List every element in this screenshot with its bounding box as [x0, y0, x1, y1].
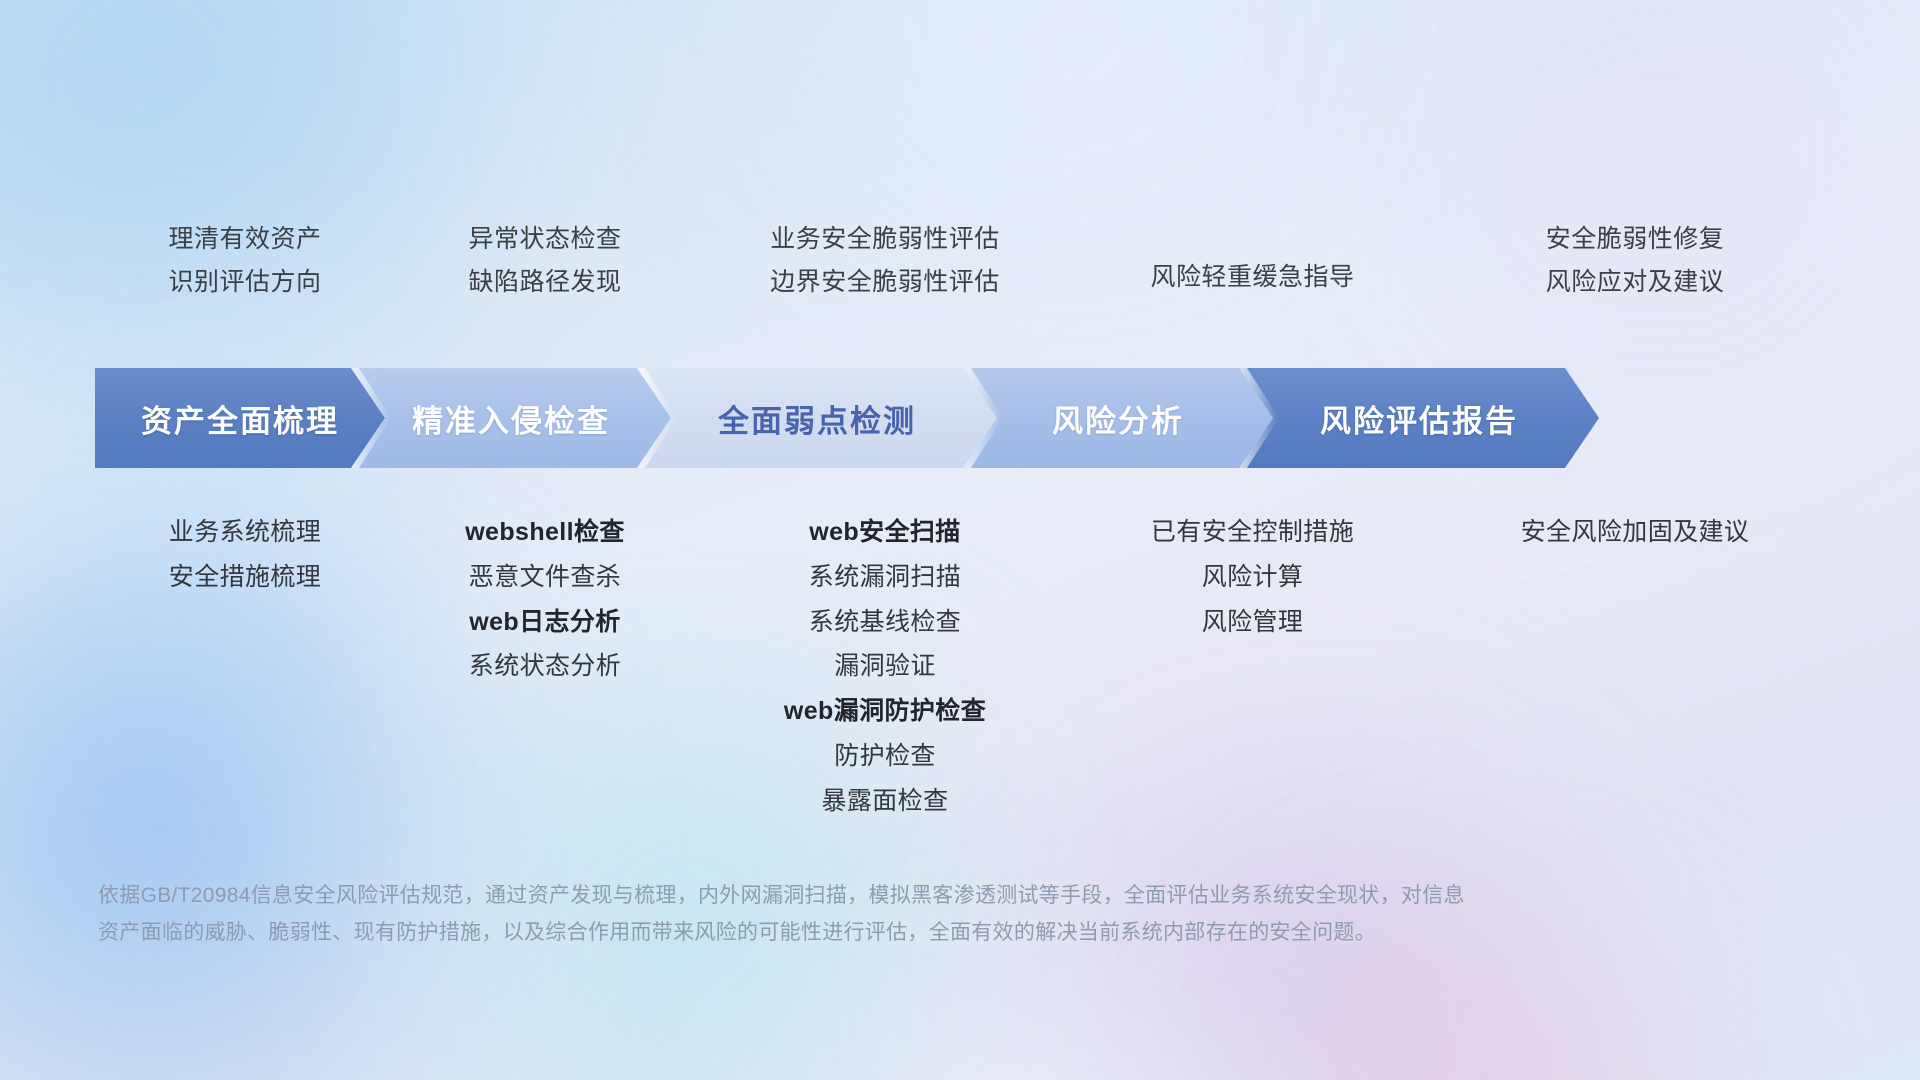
top-caption-item: 风险应对及建议 [1546, 268, 1725, 297]
bottom-detail-item: 安全风险加固及建议 [1521, 518, 1750, 547]
process-step-5[interactable]: 风险评估报告 [1239, 368, 1599, 468]
bottom-detail-item: 暴露面检查 [821, 787, 948, 816]
top-caption-column: 异常状态检查缺陷路径发现 [395, 225, 695, 335]
bottom-detail-item: 系统漏洞扫描 [809, 563, 961, 592]
top-caption-item: 理清有效资产 [168, 225, 321, 254]
process-step-4[interactable]: 风险分析 [963, 368, 1273, 468]
bottom-detail-column: 安全风险加固及建议 [1430, 500, 1840, 547]
bottom-detail-item: web漏洞防护检查 [784, 697, 986, 726]
footer-description: 依据GB/T20984信息安全风险评估规范，通过资产发现与梳理，内外网漏洞扫描，… [98, 878, 1618, 952]
bottom-detail-item: 安全措施梳理 [169, 563, 321, 592]
bottom-detail-column: webshell检查恶意文件查杀web日志分析系统状态分析 [395, 500, 695, 681]
top-caption-item: 风险轻重缓急指导 [1150, 263, 1354, 292]
top-caption-item: 识别评估方向 [168, 268, 321, 297]
process-step-label: 风险分析 [1052, 396, 1184, 441]
process-step-label: 全面弱点检测 [718, 396, 916, 441]
top-caption-item: 缺陷路径发现 [468, 268, 621, 297]
bottom-detail-item: 风险管理 [1202, 608, 1304, 637]
top-caption-item: 异常状态检查 [468, 225, 621, 254]
top-caption-column: 业务安全脆弱性评估边界安全脆弱性评估 [695, 225, 1075, 335]
bottom-detail-column: 已有安全控制措施风险计算风险管理 [1075, 500, 1430, 636]
process-chevron-band: 资产全面梳理精准入侵检查全面弱点检测风险分析风险评估报告 [95, 368, 1840, 468]
bottom-detail-item: 已有安全控制措施 [1151, 518, 1354, 547]
process-step-2[interactable]: 精准入侵检查 [351, 368, 671, 468]
bottom-detail-item: 系统状态分析 [469, 652, 621, 681]
top-caption-column: 安全脆弱性修复风险应对及建议 [1430, 225, 1840, 335]
bottom-detail-item: 恶意文件查杀 [469, 563, 621, 592]
bottom-detail-item: webshell检查 [465, 518, 625, 547]
footer-line: 依据GB/T20984信息安全风险评估规范，通过资产发现与梳理，内外网漏洞扫描，… [98, 878, 1618, 915]
top-caption-column: 风险轻重缓急指导 [1075, 225, 1430, 335]
bottom-detail-item: 系统基线检查 [809, 608, 961, 637]
process-diagram: 理清有效资产识别评估方向异常状态检查缺陷路径发现业务安全脆弱性评估边界安全脆弱性… [0, 0, 1920, 1080]
bottom-detail-item: 业务系统梳理 [169, 518, 321, 547]
bottom-detail-column: 业务系统梳理安全措施梳理 [95, 500, 395, 592]
bottom-detail-item: 漏洞验证 [834, 652, 936, 681]
bottom-detail-column: web安全扫描系统漏洞扫描系统基线检查漏洞验证web漏洞防护检查防护检查暴露面检… [695, 500, 1075, 815]
bottom-detail-item: web安全扫描 [809, 518, 960, 547]
top-caption-column: 理清有效资产识别评估方向 [95, 225, 395, 335]
bottom-detail-item: web日志分析 [469, 608, 620, 637]
bottom-detail-row: 业务系统梳理安全措施梳理webshell检查恶意文件查杀web日志分析系统状态分… [95, 500, 1855, 815]
process-step-label: 风险评估报告 [1320, 396, 1518, 441]
footer-line: 资产面临的威胁、脆弱性、现有防护措施，以及综合作用而带来风险的可能性进行评估，全… [98, 915, 1618, 952]
bottom-detail-item: 风险计算 [1202, 563, 1304, 592]
process-step-label: 精准入侵检查 [412, 396, 610, 441]
process-step-label: 资产全面梳理 [141, 396, 339, 441]
top-caption-row: 理清有效资产识别评估方向异常状态检查缺陷路径发现业务安全脆弱性评估边界安全脆弱性… [95, 225, 1855, 335]
top-caption-item: 边界安全脆弱性评估 [770, 268, 1000, 297]
bottom-detail-item: 防护检查 [834, 742, 936, 771]
process-step-1[interactable]: 资产全面梳理 [95, 368, 385, 468]
process-step-3[interactable]: 全面弱点检测 [637, 368, 997, 468]
top-caption-item: 安全脆弱性修复 [1546, 225, 1725, 254]
top-caption-item: 业务安全脆弱性评估 [770, 225, 1000, 254]
